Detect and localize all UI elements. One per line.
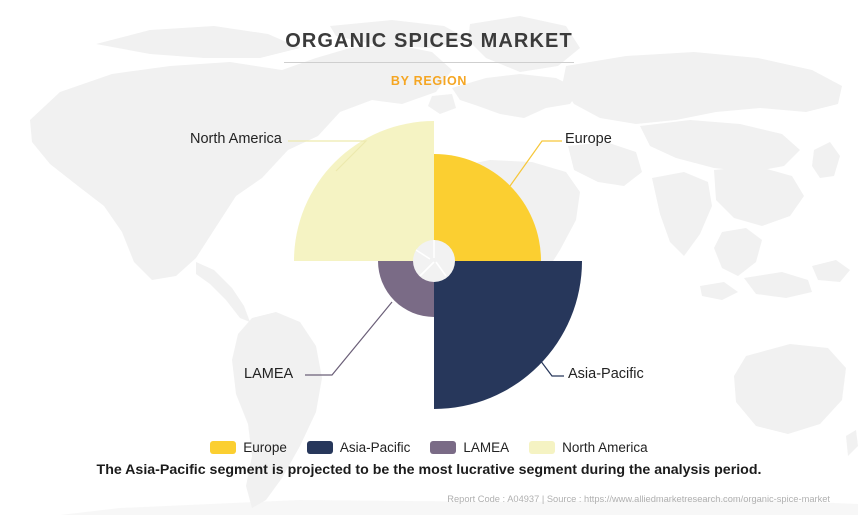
legend-label-north-america: North America: [562, 440, 648, 455]
legend-item-lamea[interactable]: LAMEA: [430, 440, 509, 455]
legend-swatch-north-america: [529, 441, 555, 454]
chart-caption: The Asia-Pacific segment is projected to…: [0, 462, 858, 478]
segment-label-north-america: North America: [190, 131, 282, 147]
legend-label-lamea: LAMEA: [463, 440, 509, 455]
legend-item-asia-pacific[interactable]: Asia-Pacific: [307, 440, 411, 455]
segment-north-america[interactable]: [294, 121, 434, 261]
legend-swatch-europe: [210, 441, 236, 454]
leader-line-europe: [510, 141, 562, 186]
leader-line-asia-pacific: [540, 360, 564, 376]
segment-europe[interactable]: [434, 154, 541, 261]
segment-label-europe: Europe: [565, 131, 612, 147]
source-attribution: Report Code : A04937 | Source : https://…: [447, 494, 830, 504]
legend-label-asia-pacific: Asia-Pacific: [340, 440, 411, 455]
legend-swatch-asia-pacific: [307, 441, 333, 454]
legend-item-europe[interactable]: Europe: [210, 440, 287, 455]
legend-label-europe: Europe: [243, 440, 287, 455]
segment-label-asia-pacific: Asia-Pacific: [568, 366, 644, 382]
segment-label-lamea: LAMEA: [244, 366, 293, 382]
legend-item-north-america[interactable]: North America: [529, 440, 648, 455]
legend-swatch-lamea: [430, 441, 456, 454]
infographic-canvas: ORGANIC SPICES MARKET BY REGION North Am…: [0, 0, 858, 515]
leader-line-lamea: [305, 302, 392, 375]
segment-asia-pacific[interactable]: [434, 261, 582, 409]
chart-legend: Europe Asia-Pacific LAMEA North America: [0, 436, 858, 458]
